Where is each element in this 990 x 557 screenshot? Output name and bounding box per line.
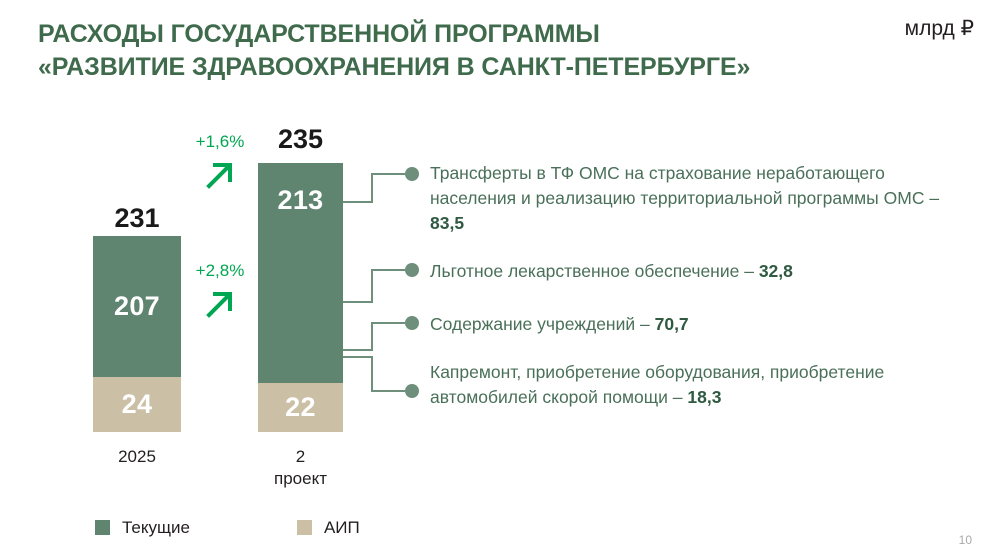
annotation-value-capital: 18,3 [687,387,721,407]
annotation-text-transfers: Трансферты в ТФ ОМС на страхование нераб… [430,163,939,208]
bar-segment-2026-current: 213 [258,163,343,383]
page-number: 10 [959,533,972,547]
bar-2025: 207 24 [93,236,181,432]
annotation-text-maintenance: Содержание учреждений – [430,314,655,334]
annotation-item-drugs: Льготное лекарственное обеспечение – 32,… [430,259,975,284]
annotation-item-transfers: Трансферты в ТФ ОМС на страхование нераб… [430,161,975,236]
chart-plot-area: 231 207 24 2025 235 213 22 2 проект +1,6… [0,0,990,557]
legend-label-current: Текущие [122,519,190,536]
bar-segment-value-2025-current: 207 [114,293,160,320]
bar-segment-2025-current: 207 [93,236,181,377]
bar-segment-value-2026-current: 213 [278,187,324,214]
legend-label-aip: АИП [324,519,360,536]
bar-category-2025: 2025 [93,446,181,468]
growth-value-current: +2,8% [177,262,263,279]
bar-category-sublabel-2026: проект [258,468,343,490]
arrow-up-right-icon [177,160,263,194]
bar-category-label-2025: 2025 [118,447,156,466]
bar-category-2026: 2 проект [258,446,343,490]
bar-2026: 213 22 [258,163,343,432]
annotation-value-drugs: 32,8 [759,261,793,281]
annotation-item-capital: Капремонт, приобретение оборудования, пр… [430,360,975,410]
square-swatch-icon [297,520,312,535]
bar-total-2026: 235 [258,126,343,153]
arrow-up-right-icon [177,289,263,323]
bar-segment-2025-aip: 24 [93,377,181,432]
growth-badge-current: +2,8% [177,262,263,323]
bar-segment-value-2026-aip: 22 [285,394,316,421]
bar-segment-value-2025-aip: 24 [122,391,153,418]
growth-badge-total: +1,6% [177,133,263,194]
bar-total-2025: 231 [93,205,181,232]
legend-item-current[interactable]: Текущие [95,519,190,536]
chart-legend: Текущие АИП [95,519,360,536]
annotation-item-maintenance: Содержание учреждений – 70,7 [430,312,975,337]
annotation-value-transfers: 83,5 [430,213,464,233]
annotation-text-capital: Капремонт, приобретение оборудования, пр… [430,362,884,407]
legend-item-aip[interactable]: АИП [297,519,360,536]
bar-segment-2026-aip: 22 [258,383,343,432]
bar-category-label-2026: 2 [296,447,305,466]
square-swatch-icon [95,520,110,535]
annotation-text-drugs: Льготное лекарственное обеспечение – [430,261,759,281]
annotation-value-maintenance: 70,7 [655,314,689,334]
growth-value-total: +1,6% [177,133,263,150]
